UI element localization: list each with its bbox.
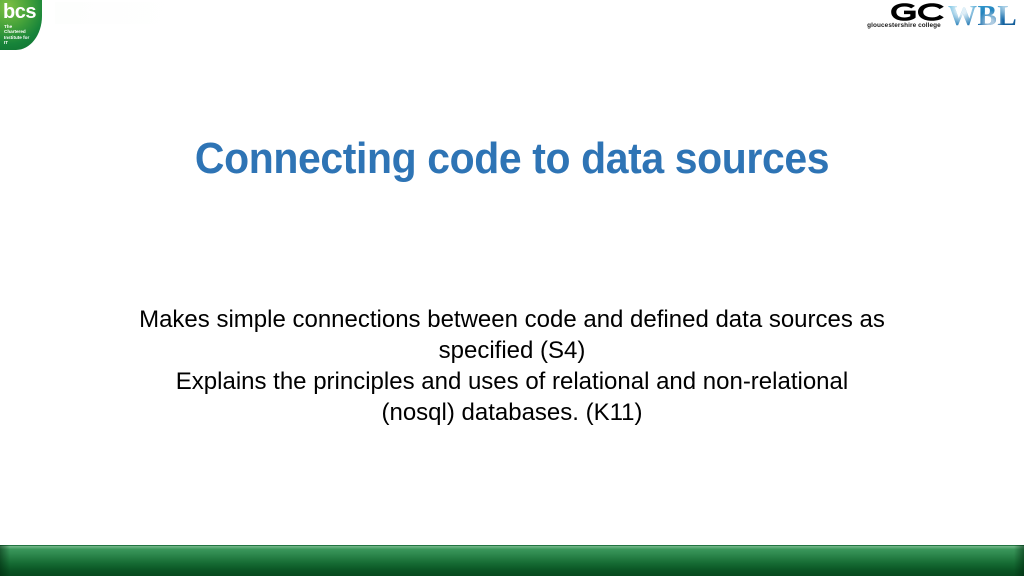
footer-bar-bevel-left — [0, 545, 10, 576]
wbl-wordmark: WBL — [948, 0, 1017, 32]
bcs-strapline: The Chartered Institute for IT — [4, 24, 32, 46]
footer-bar-bevel-right — [1014, 545, 1024, 576]
page-title: Connecting code to data sources — [95, 133, 928, 185]
gloucestershire-college-logo: gloucestershire college — [862, 2, 946, 34]
body-paragraph-1: Makes simple connections between code an… — [137, 304, 887, 366]
presentation-slide: bcs The Chartered Institute for IT glouc… — [0, 0, 1024, 576]
footer-bar-highlight — [0, 546, 1024, 549]
footer-bar — [0, 545, 1024, 576]
wbl-logo: WBL — [948, 1, 1022, 31]
faint-logo-artifact — [55, 2, 175, 24]
body-paragraph-2: Explains the principles and uses of rela… — [137, 366, 887, 428]
bcs-wordmark: bcs — [3, 2, 36, 22]
bcs-logo: bcs The Chartered Institute for IT — [0, 0, 42, 50]
slide-body: Makes simple connections between code an… — [137, 304, 887, 428]
gloucestershire-college-name: gloucestershire college — [862, 22, 946, 30]
gc-monogram-icon — [888, 2, 946, 22]
